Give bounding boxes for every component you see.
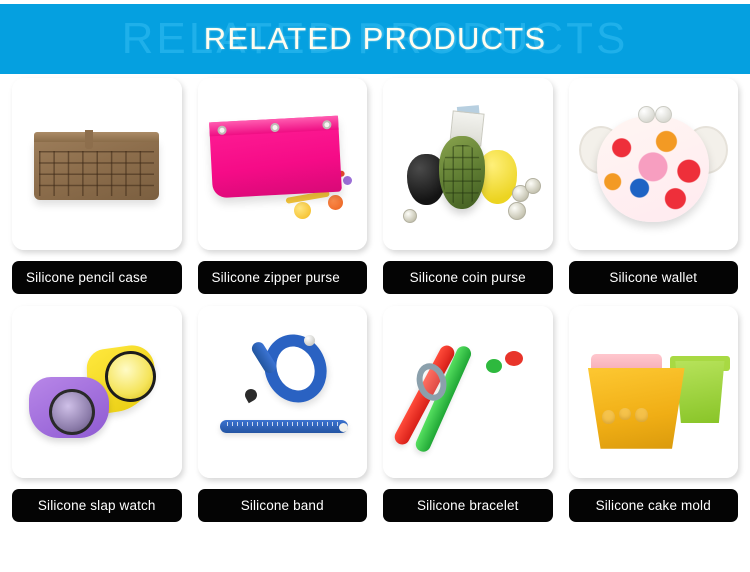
product-image-wallet: [569, 78, 739, 250]
cake-mold-illustration: [569, 306, 739, 478]
product-card-pencil-case[interactable]: [12, 78, 182, 250]
zipper-purse-grommet: [323, 120, 332, 129]
coin-purse-coin: [508, 202, 526, 220]
product-label-pencil-case[interactable]: Silicone pencil case: [12, 261, 182, 294]
page-title: RELATED PRODUCTS: [0, 21, 750, 57]
bracelet-red-tip: [505, 351, 523, 366]
product-cell: Silicone bracelet: [375, 306, 561, 522]
slap-watch-purple-dial: [49, 389, 95, 435]
bracelet-green-tip: [486, 359, 502, 373]
product-cell: Silicone cake mold: [561, 306, 747, 522]
zipper-purse-grommet: [217, 126, 226, 135]
zipper-purse-illustration: [198, 78, 368, 250]
zipper-purse-grommet: [270, 123, 279, 132]
product-cell: Silicone slap watch: [4, 306, 190, 522]
product-label-slap-watch[interactable]: Silicone slap watch: [12, 489, 182, 522]
zipper-purse-eraser-lemon: [294, 202, 311, 219]
product-label-band[interactable]: Silicone band: [198, 489, 368, 522]
wallet-clasp-ball: [655, 106, 672, 123]
product-label-cake-mold[interactable]: Silicone cake mold: [569, 489, 739, 522]
coin-purse-coin: [403, 209, 417, 223]
product-image-slap-watch: [12, 306, 182, 478]
product-image-coin-purse: [383, 78, 553, 250]
band-ruler-knob: [339, 423, 348, 432]
zipper-purse-top-band: [209, 116, 338, 137]
cake-mold-yellow: [584, 368, 689, 449]
zipper-purse-eraser-grape: [343, 176, 352, 185]
product-image-band: [198, 306, 368, 478]
coin-purse-green-grenade: [439, 136, 485, 208]
product-card-slap-watch[interactable]: [12, 306, 182, 478]
wallet-illustration: [569, 78, 739, 250]
product-cell: Silicone zipper purse: [190, 78, 376, 294]
product-card-band[interactable]: [198, 306, 368, 478]
coin-purse-illustration: [383, 78, 553, 250]
pencil-case-body: [34, 138, 159, 200]
product-card-wallet[interactable]: [569, 78, 739, 250]
related-products-banner: RELATED PRODUCTS RELATED PRODUCTS: [0, 4, 750, 74]
band-flat-ruler: [220, 420, 349, 433]
pencil-case-illustration: [12, 78, 182, 250]
zipper-purse-body: [209, 116, 342, 198]
product-cell: Silicone coin purse: [375, 78, 561, 294]
wallet-clasp-ball: [638, 106, 655, 123]
product-image-pencil-case: [12, 78, 182, 250]
cake-mold-relief: [619, 408, 631, 420]
product-card-coin-purse[interactable]: [383, 78, 553, 250]
bracelet-illustration: [383, 306, 553, 478]
product-label-coin-purse[interactable]: Silicone coin purse: [383, 261, 553, 294]
product-grid: Silicone pencil case: [0, 78, 750, 522]
product-image-zipper-purse: [198, 78, 368, 250]
product-card-bracelet[interactable]: [383, 306, 553, 478]
product-label-bracelet[interactable]: Silicone bracelet: [383, 489, 553, 522]
product-image-bracelet: [383, 306, 553, 478]
band-illustration: [198, 306, 368, 478]
slap-watch-yellow-dial: [105, 351, 156, 403]
product-card-zipper-purse[interactable]: [198, 78, 368, 250]
wallet-body: [597, 116, 709, 223]
coin-purse-grenade-texture: [443, 145, 481, 204]
pencil-case-zipper: [34, 132, 159, 142]
product-image-cake-mold: [569, 306, 739, 478]
pencil-case-zipper-pull: [85, 130, 93, 149]
product-cell: Silicone wallet: [561, 78, 747, 294]
product-cell: Silicone pencil case: [4, 78, 190, 294]
product-card-cake-mold[interactable]: [569, 306, 739, 478]
cake-mold-relief: [602, 410, 616, 425]
slap-watch-illustration: [12, 306, 182, 478]
band-tip: [243, 386, 259, 402]
product-label-zipper-purse[interactable]: Silicone zipper purse: [198, 261, 368, 294]
banner-inner: RELATED PRODUCTS RELATED PRODUCTS: [0, 4, 750, 74]
coin-purse-coin: [525, 178, 541, 194]
product-cell: Silicone band: [190, 306, 376, 522]
pencil-case-texture: [39, 151, 154, 197]
cake-mold-relief: [635, 408, 648, 422]
product-label-wallet[interactable]: Silicone wallet: [569, 261, 739, 294]
zipper-purse-eraser-orange: [328, 195, 343, 210]
